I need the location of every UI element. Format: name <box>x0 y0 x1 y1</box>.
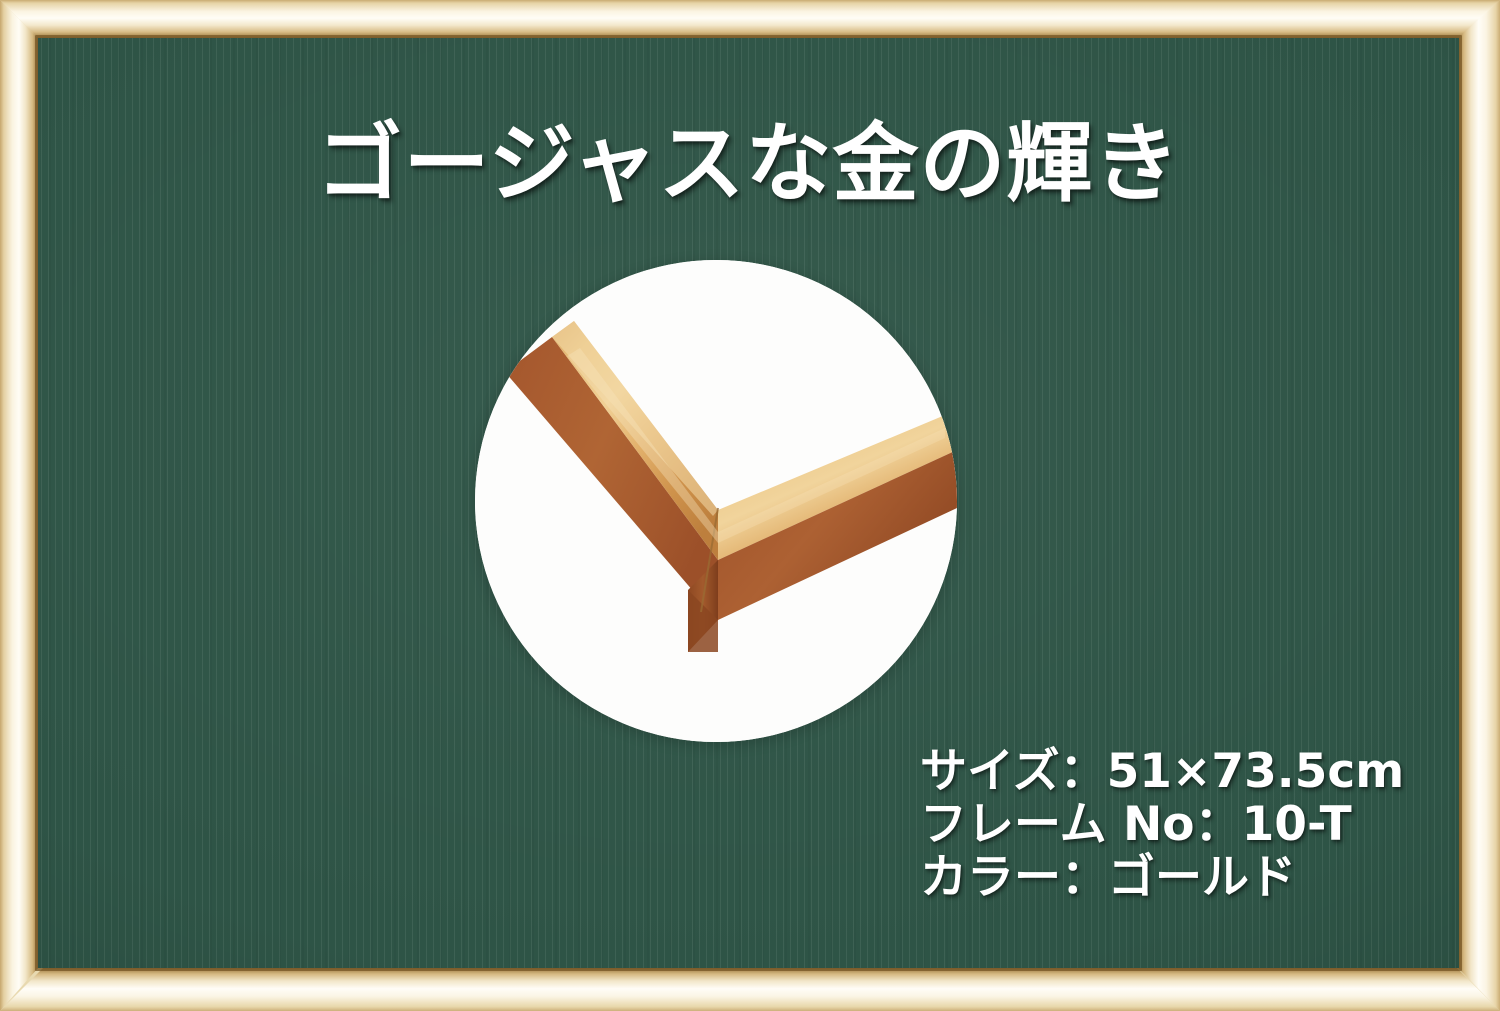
frame-rail-right <box>1458 0 1500 1011</box>
frame-rail-top <box>0 0 1500 38</box>
spec-line-size: サイズ：51×73.5cm <box>920 745 1420 798</box>
frame-rail-bottom <box>0 968 1500 1011</box>
frame-rail-left <box>0 0 38 1011</box>
spec-text-block: サイズ：51×73.5cm フレーム No：10-T カラー：ゴールド <box>920 745 1420 904</box>
gold-frame-corner-icon <box>475 260 957 742</box>
product-image-canvas: ゴージャスな金の輝き <box>0 0 1500 1011</box>
frame-corner-closeup-circle <box>475 260 957 742</box>
spec-line-frame-no: フレーム No：10-T <box>920 798 1420 851</box>
spec-line-color: カラー：ゴールド <box>920 851 1420 904</box>
